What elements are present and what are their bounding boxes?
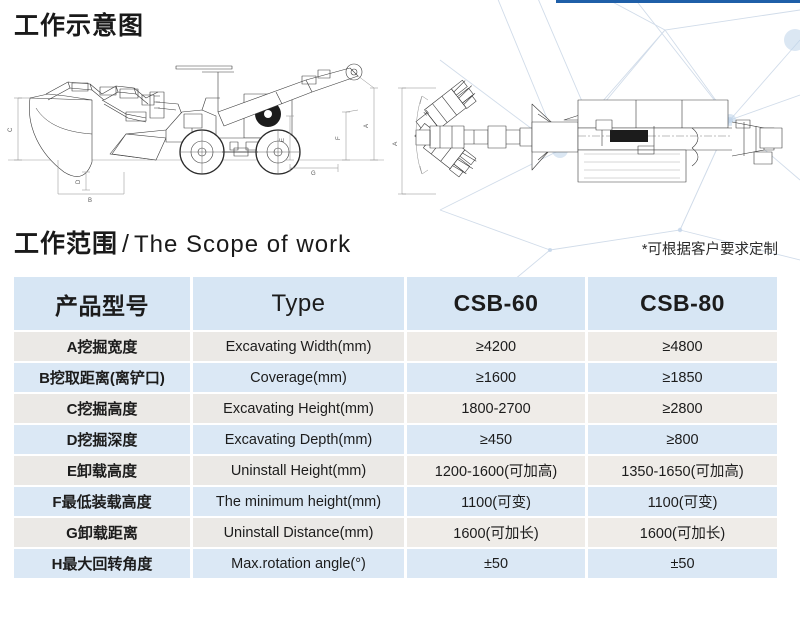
dim-label-b: B: [88, 198, 92, 204]
dim-label-g: G: [311, 171, 316, 177]
table-row: F最低装载高度 The minimum height(mm) 1100(可变) …: [14, 487, 777, 518]
column-header-model: 产品型号: [14, 277, 193, 332]
table-row: H最大回转角度 Max.rotation angle(°) ±50 ±50: [14, 549, 777, 580]
table-row: G卸载距离 Uninstall Distance(mm) 1600(可加长) 1…: [14, 518, 777, 549]
table-body: A挖掘宽度 Excavating Width(mm) ≥4200 ≥4800 B…: [14, 332, 777, 580]
spec-type: Uninstall Distance(mm): [193, 518, 407, 549]
spec-value-csb80: ±50: [588, 549, 777, 580]
dim-label-e: E: [280, 138, 286, 142]
scope-title-cn: 工作范围: [14, 230, 118, 258]
machine-side-view-drawing: C B D E G F A: [6, 42, 386, 207]
spec-type: Excavating Height(mm): [193, 394, 407, 425]
table-header-row: 产品型号 Type CSB-60 CSB-80: [14, 277, 777, 332]
spec-value-csb80: ≥2800: [588, 394, 777, 425]
spec-value-csb60: ≥1600: [407, 363, 588, 394]
dim-label-c: C: [8, 127, 14, 132]
table-row: C挖掘高度 Excavating Height(mm) 1800-2700 ≥2…: [14, 394, 777, 425]
spec-name: A挖掘宽度: [14, 332, 193, 363]
spec-value-csb60: ≥4200: [407, 332, 588, 363]
table-row: B挖取距离(离铲口) Coverage(mm) ≥1600 ≥1850: [14, 363, 777, 394]
top-accent-bar: [556, 0, 800, 3]
customization-note: *可根据客户要求定制: [642, 238, 778, 259]
column-header-type: Type: [193, 277, 407, 332]
column-header-csb80: CSB-80: [588, 277, 777, 332]
scope-title-en: The Scope of work: [134, 231, 351, 258]
page-title-scope: 工作范围/The Scope of work: [14, 224, 351, 260]
spec-name: E卸载高度: [14, 456, 193, 487]
spec-value-csb60: 1600(可加长): [407, 518, 588, 549]
machine-top-view-drawing: A H: [392, 42, 794, 207]
dim-label-f: F: [336, 136, 342, 140]
spec-value-csb80: ≥800: [588, 425, 777, 456]
product-spec-page: 工作示意图: [0, 0, 800, 618]
table-row: A挖掘宽度 Excavating Width(mm) ≥4200 ≥4800: [14, 332, 777, 363]
dim-label-a-top: A: [392, 141, 399, 146]
spec-value-csb80: 1600(可加长): [588, 518, 777, 549]
spec-value-csb60: ±50: [407, 549, 588, 580]
specification-table: 产品型号 Type CSB-60 CSB-80 A挖掘宽度 Excavating…: [14, 277, 777, 580]
table-row: D挖掘深度 Excavating Depth(mm) ≥450 ≥800: [14, 425, 777, 456]
spec-value-csb80: 1100(可变): [588, 487, 777, 518]
spec-name: C挖掘高度: [14, 394, 193, 425]
spec-value-csb80: ≥4800: [588, 332, 777, 363]
spec-type: Uninstall Height(mm): [193, 456, 407, 487]
spec-value-csb60: 1100(可变): [407, 487, 588, 518]
spec-value-csb60: 1800-2700: [407, 394, 588, 425]
spec-name: G卸载距离: [14, 518, 193, 549]
spec-type: Max.rotation angle(°): [193, 549, 407, 580]
spec-name: F最低装载高度: [14, 487, 193, 518]
scope-title-separator: /: [122, 230, 130, 258]
spec-value-csb80: 1350-1650(可加高): [588, 456, 777, 487]
dim-label-d: D: [76, 179, 82, 184]
spec-value-csb60: ≥450: [407, 425, 588, 456]
page-title-diagram: 工作示意图: [14, 6, 144, 42]
spec-type: Excavating Depth(mm): [193, 425, 407, 456]
dim-label-a: A: [364, 124, 370, 128]
spec-type: Excavating Width(mm): [193, 332, 407, 363]
spec-name: D挖掘深度: [14, 425, 193, 456]
table-row: E卸载高度 Uninstall Height(mm) 1200-1600(可加高…: [14, 456, 777, 487]
column-header-csb60: CSB-60: [407, 277, 588, 332]
spec-type: Coverage(mm): [193, 363, 407, 394]
spec-name: B挖取距离(离铲口): [14, 363, 193, 394]
spec-type: The minimum height(mm): [193, 487, 407, 518]
spec-name: H最大回转角度: [14, 549, 193, 580]
spec-value-csb80: ≥1850: [588, 363, 777, 394]
spec-value-csb60: 1200-1600(可加高): [407, 456, 588, 487]
